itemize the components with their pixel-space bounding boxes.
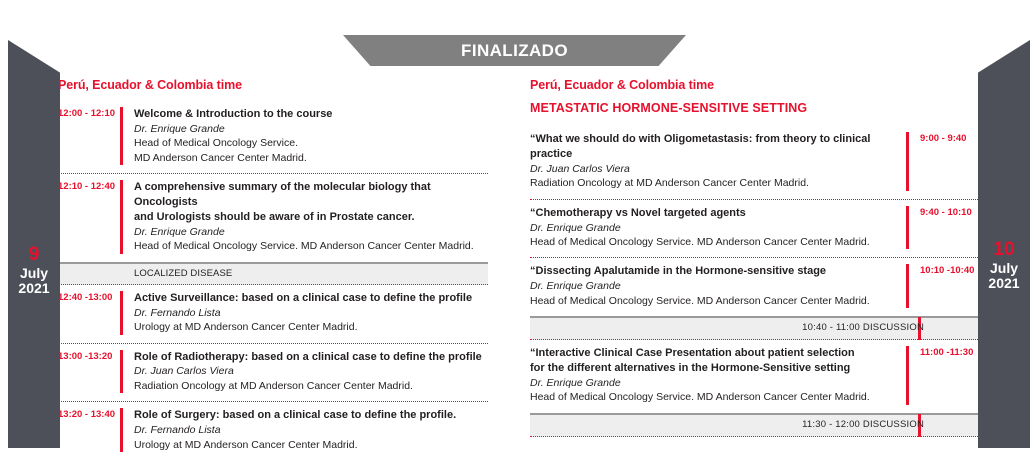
agenda-title: Role of Surgery: based on a clinical cas… xyxy=(134,408,488,423)
agenda-speaker: Dr. Fernando Lista xyxy=(134,423,488,437)
agenda-title: Role of Radiotherapy: based on a clinica… xyxy=(134,350,488,365)
agenda-speaker: Dr. Fernando Lista xyxy=(134,306,488,320)
agenda-body: A comprehensive summary of the molecular… xyxy=(134,180,488,254)
agenda-row: “Interactive Clinical Case Presentation … xyxy=(530,340,980,413)
agenda-body: “Dissecting Apalutamide in the Hormone-s… xyxy=(530,264,906,308)
date-left-year: 2021 xyxy=(8,281,60,296)
row-accent-bar xyxy=(120,350,123,394)
row-accent-bar xyxy=(120,107,123,165)
agenda-affiliation: Radiation Oncology at MD Anderson Cancer… xyxy=(134,379,488,393)
agenda-row: 13:00 -13:20 Role of Radiotherapy: based… xyxy=(58,344,488,403)
date-left-month: July xyxy=(8,266,60,281)
agenda-title: Active Surveillance: based on a clinical… xyxy=(134,291,488,306)
agenda-speaker: Dr. Enrique Grande xyxy=(530,279,897,293)
agenda-time: 11:00 -11:30 xyxy=(909,346,980,405)
row-accent-bar xyxy=(120,408,123,452)
agenda-speaker: Dr. Enrique Grande xyxy=(530,376,897,390)
agenda-row: 12:10 - 12:40 A comprehensive summary of… xyxy=(58,174,488,262)
agenda-affiliation: Radiation Oncology at MD Anderson Cancer… xyxy=(530,176,897,190)
agenda-affiliation: Head of Medical Oncology Service. MD And… xyxy=(530,390,897,404)
date-right-month: July xyxy=(978,261,1030,276)
agenda-title: A comprehensive summary of the molecular… xyxy=(134,180,488,210)
date-right-year: 2021 xyxy=(978,276,1030,291)
agenda-body: Active Surveillance: based on a clinical… xyxy=(134,291,488,335)
agenda-body: Welcome & Introduction to the course Dr.… xyxy=(134,107,488,165)
agenda-affiliation: Head of Medical Oncology Service. xyxy=(134,136,488,150)
timezone-heading-left: Perú, Ecuador & Colombia time xyxy=(58,78,488,92)
agenda-body: “Chemotherapy vs Novel targeted agents D… xyxy=(530,206,906,250)
row-accent-bar xyxy=(120,291,123,335)
agenda-speaker: Dr. Enrique Grande xyxy=(530,221,897,235)
date-panel-left: 9 July 2021 xyxy=(8,40,60,448)
agenda-body: Role of Radiotherapy: based on a clinica… xyxy=(134,350,488,394)
agenda-body: Role of Surgery: based on a clinical cas… xyxy=(134,408,488,452)
section-band-label: LOCALIZED DISEASE xyxy=(134,268,232,279)
status-badge: FINALIZADO xyxy=(343,35,686,66)
agenda-column-day-10: Perú, Ecuador & Colombia time METASTATIC… xyxy=(530,78,980,437)
agenda-title: “What we should do with Oligometastasis:… xyxy=(530,132,897,162)
agenda-title: Welcome & Introduction to the course xyxy=(134,107,488,122)
agenda-time: 9:40 - 10:10 xyxy=(909,206,980,250)
agenda-body: “Interactive Clinical Case Presentation … xyxy=(530,346,906,405)
agenda-affiliation: Head of Medical Oncology Service. MD And… xyxy=(134,239,488,253)
discussion-band-label: 10:40 - 11:00 DISCUSSION xyxy=(802,322,924,333)
agenda-time: 13:20 - 13:40 xyxy=(58,408,120,452)
agenda-affiliation: Head of Medical Oncology Service. MD And… xyxy=(530,294,897,308)
agenda-time: 10:10 -10:40 xyxy=(909,264,980,308)
discussion-band: 10:40 - 11:00 DISCUSSION xyxy=(530,316,980,340)
agenda-affiliation: Head of Medical Oncology Service. MD And… xyxy=(530,235,897,249)
status-banner: FINALIZADO xyxy=(343,35,686,66)
agenda-row: “Dissecting Apalutamide in the Hormone-s… xyxy=(530,258,980,316)
timezone-heading-right: Perú, Ecuador & Colombia time xyxy=(530,78,980,92)
agenda-title: for the different alternatives in the Ho… xyxy=(530,361,897,376)
date-left-inner: 9 July 2021 xyxy=(8,245,60,296)
agenda-body: “What we should do with Oligometastasis:… xyxy=(530,132,906,191)
section-heading-metastatic: METASTATIC HORMONE-SENSITIVE SETTING xyxy=(530,101,980,115)
date-right-day: 10 xyxy=(978,240,1030,261)
agenda-speaker: Dr. Enrique Grande xyxy=(134,122,488,136)
discussion-band: 11:30 - 12:00 DISCUSSION xyxy=(530,413,980,437)
agenda-affiliation: MD Anderson Cancer Center Madrid. xyxy=(134,151,488,165)
agenda-time: 12:10 - 12:40 xyxy=(58,180,120,254)
agenda-title: “Interactive Clinical Case Presentation … xyxy=(530,346,897,361)
agenda-title: and Urologists should be aware of in Pro… xyxy=(134,210,488,225)
agenda-time: 12:40 -13:00 xyxy=(58,291,120,335)
discussion-band-label: 11:30 - 12:00 DISCUSSION xyxy=(802,419,924,430)
agenda-time: 9:00 - 9:40 xyxy=(909,132,980,191)
section-band-localized-disease: LOCALIZED DISEASE xyxy=(58,262,488,285)
agenda-time: 12:00 - 12:10 xyxy=(58,107,120,165)
date-panel-right: 10 July 2021 xyxy=(978,40,1030,448)
agenda-speaker: Dr. Juan Carlos Viera xyxy=(134,364,488,378)
agenda-row: 13:20 - 13:40 Role of Surgery: based on … xyxy=(58,402,488,460)
agenda-title: “Chemotherapy vs Novel targeted agents xyxy=(530,206,897,221)
agenda-affiliation: Urology at MD Anderson Cancer Center Mad… xyxy=(134,320,488,334)
date-right-inner: 10 July 2021 xyxy=(978,240,1030,291)
agenda-title: “Dissecting Apalutamide in the Hormone-s… xyxy=(530,264,897,279)
agenda-time: 13:00 -13:20 xyxy=(58,350,120,394)
row-accent-bar xyxy=(120,180,123,254)
agenda-column-day-9: Perú, Ecuador & Colombia time 12:00 - 12… xyxy=(58,78,488,460)
agenda-row: “What we should do with Oligometastasis:… xyxy=(530,126,980,200)
agenda-row: “Chemotherapy vs Novel targeted agents D… xyxy=(530,200,980,259)
agenda-speaker: Dr. Juan Carlos Viera xyxy=(530,162,897,176)
agenda-affiliation: Urology at MD Anderson Cancer Center Mad… xyxy=(134,438,488,452)
date-left-day: 9 xyxy=(8,245,60,266)
agenda-row: 12:00 - 12:10 Welcome & Introduction to … xyxy=(58,101,488,174)
agenda-speaker: Dr. Enrique Grande xyxy=(134,225,488,239)
agenda-row: 12:40 -13:00 Active Surveillance: based … xyxy=(58,285,488,344)
